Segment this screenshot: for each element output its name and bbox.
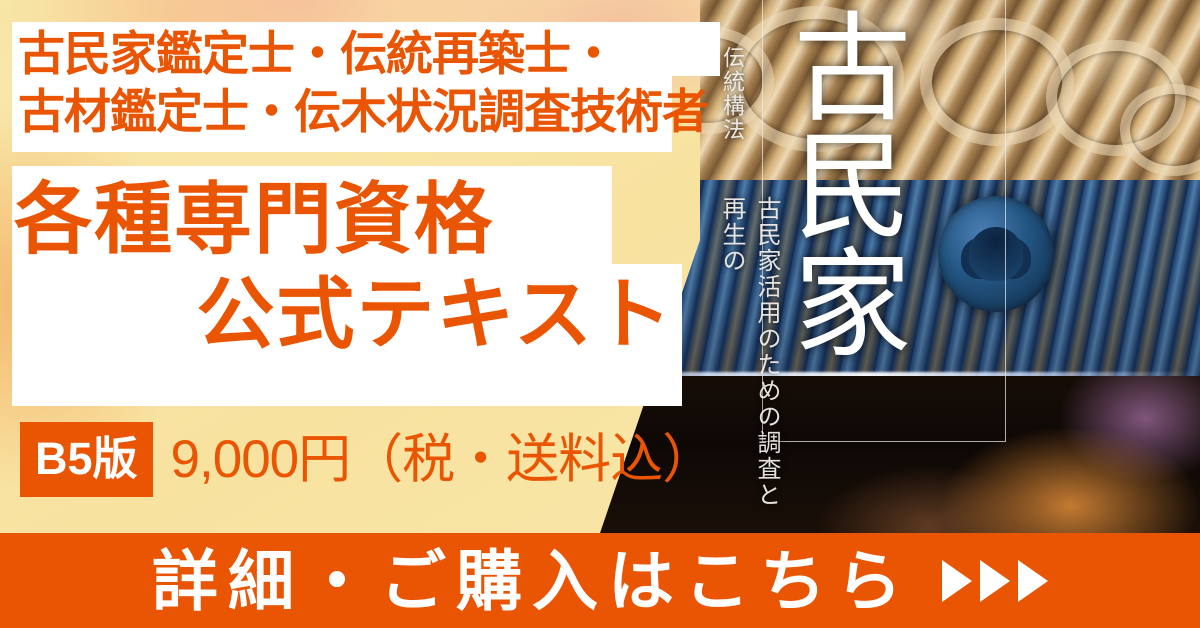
price-row: B5版 9,000円（税・送料込） — [20, 422, 714, 497]
book-cover-subtitle-2: 古民家活用のための調査と再生の — [714, 196, 784, 533]
play-arrow-icon — [942, 560, 972, 602]
book-cover-title: 古民家 — [788, 6, 918, 360]
book-cover-subtitle-1: 伝統構法 — [716, 46, 748, 142]
cta-button[interactable]: 詳細・ご購入はこちら — [0, 533, 1200, 628]
qualifications-text: 古民家鑑定士・伝統再築士・ 古材鑑定士・伝木状況調査技術者 — [18, 25, 718, 142]
format-badge: B5版 — [20, 422, 153, 497]
headline-line-1: 各種専門資格 — [14, 172, 682, 267]
price-amount: 9,000円（税・送料込） — [171, 433, 715, 486]
qualifications-line-1: 古民家鑑定士・伝統再築士・ — [18, 25, 718, 83]
play-arrow-icon — [1018, 560, 1048, 602]
cta-arrows — [942, 560, 1048, 602]
play-arrow-icon — [980, 560, 1010, 602]
headline-text: 各種専門資格 公式テキスト — [14, 172, 682, 362]
cta-label: 詳細・ご購入はこちら — [152, 548, 912, 614]
qualifications-line-2: 古材鑑定士・伝木状況調査技術者 — [18, 83, 718, 141]
promo-banner: 古民家 伝統構法 古民家活用のための調査と再生の 古民家鑑定士・伝統再築士・ 古… — [0, 0, 1200, 628]
headline-line-2: 公式テキスト — [14, 267, 682, 362]
